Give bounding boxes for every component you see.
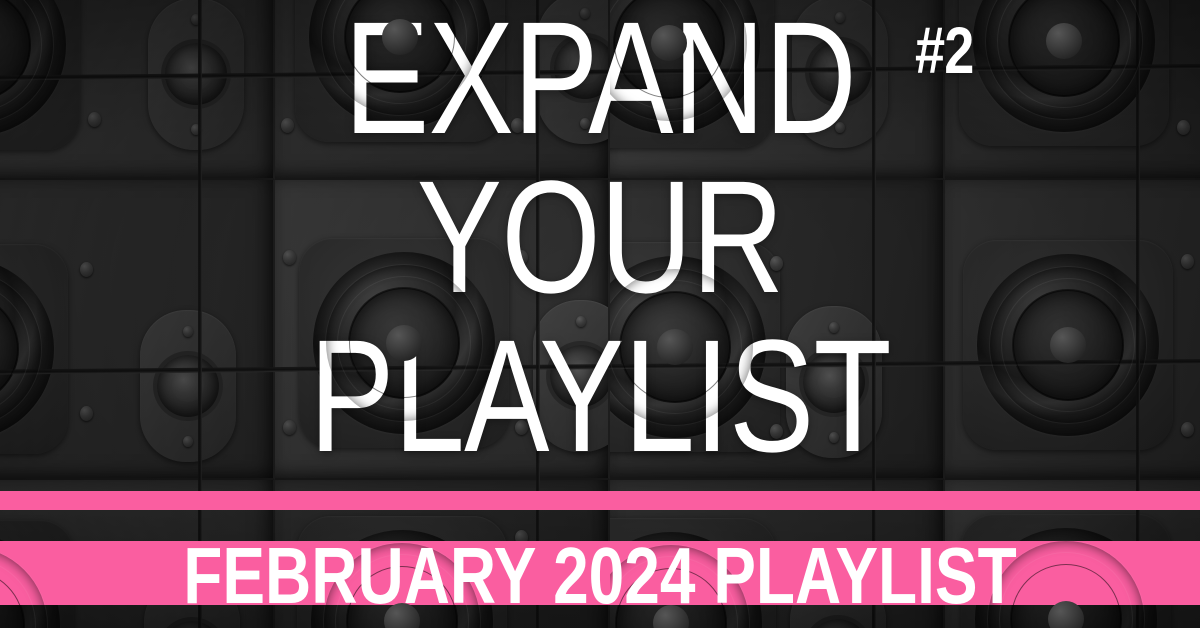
poster-canvas: EXPAND YOUR PLAYLIST #2 FEBRUARY 2024 PL… (0, 0, 1200, 628)
bolt-icon (835, 12, 845, 23)
bolt-icon (515, 250, 528, 265)
bolt-icon (829, 432, 839, 443)
accent-bar-thick (0, 541, 1200, 605)
bolt-icon (283, 420, 296, 435)
bolt-icon (511, 118, 524, 133)
cabinet-vertical-seam (1136, 0, 1140, 628)
tweeter-icon (786, 306, 882, 458)
bolt-icon (576, 426, 586, 437)
speaker-cabinet (0, 0, 275, 180)
tweeter-icon (533, 300, 610, 452)
bolt-icon (580, 118, 590, 129)
bolt-icon (835, 122, 845, 133)
bolt-icon (183, 326, 193, 337)
speaker-wall-background (0, 0, 1200, 628)
bolt-icon (515, 420, 528, 435)
tweeter-icon (140, 310, 236, 462)
speaker-cabinet (275, 180, 610, 480)
speaker-cabinet (0, 180, 275, 480)
bolt-icon (80, 406, 93, 421)
speaker-cabinet (945, 180, 1200, 480)
speaker-cabinet (945, 0, 1200, 180)
bolt-icon (88, 112, 101, 127)
issue-number-badge: #2 (915, 17, 974, 83)
accent-bar-thin (0, 491, 1200, 510)
bolt-icon (281, 118, 294, 133)
cabinet-vertical-seam (536, 0, 540, 628)
speaker-cabinet-grid (0, 0, 1200, 628)
bolt-icon (1177, 120, 1190, 135)
woofer-icon (610, 242, 780, 452)
bolt-icon (183, 436, 193, 447)
woofer-icon (299, 238, 509, 448)
bolt-icon (770, 424, 783, 439)
speaker-cabinet (275, 0, 610, 180)
bolt-icon (576, 316, 586, 327)
cabinet-vertical-seam (872, 0, 876, 628)
cabinet-vertical-seam (198, 0, 202, 628)
woofer-icon (963, 240, 1173, 450)
bolt-icon (776, 116, 789, 131)
bolt-icon (1181, 422, 1194, 437)
bolt-icon (770, 256, 783, 271)
woofer-icon (0, 244, 68, 454)
bolt-icon (283, 250, 296, 265)
bolt-icon (580, 8, 590, 19)
bolt-icon (829, 322, 839, 333)
speaker-cabinet (610, 180, 945, 480)
bolt-icon (80, 262, 93, 277)
bolt-icon (1181, 254, 1194, 269)
speaker-cabinet (610, 0, 945, 180)
